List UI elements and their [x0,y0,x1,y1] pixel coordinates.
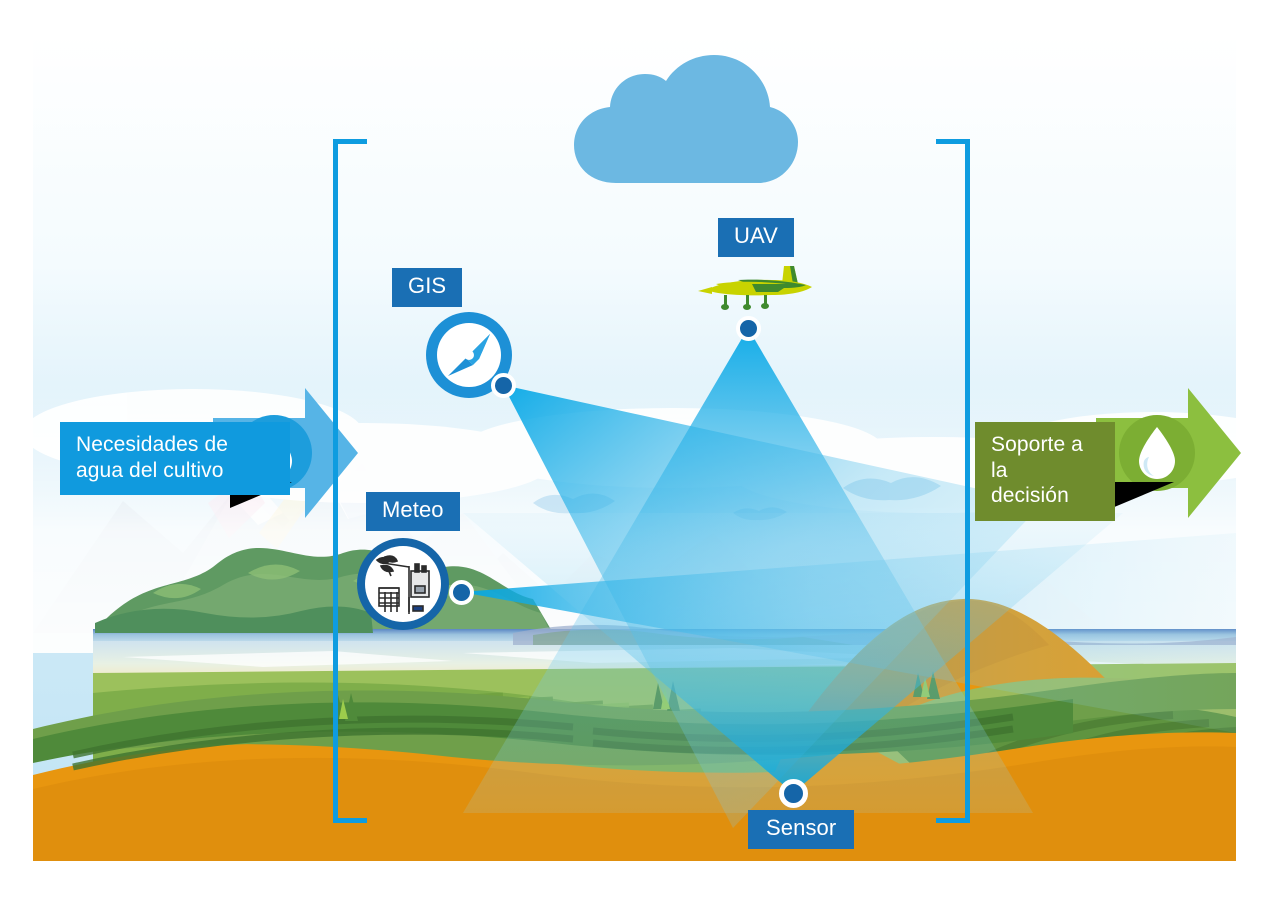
uav-label: UAV [718,218,794,257]
sensor-node-dot[interactable] [779,779,808,808]
gis-label: GIS [392,268,462,307]
cloud-icon [570,55,800,185]
right-bracket [936,139,970,823]
water-drop-icon [1119,415,1195,491]
infographic-canvas: Necesidades de agua del cultivo Soporte … [0,0,1269,897]
output-label-notch [1112,482,1174,508]
input-arrow-label: Necesidades de agua del cultivo [60,422,290,495]
gis-node-dot[interactable] [491,373,516,398]
sensor-label: Sensor [748,810,854,849]
meteo-label: Meteo [366,492,460,531]
weather-station-icon [355,536,451,632]
uav-node-dot[interactable] [736,316,761,341]
left-bracket [333,139,367,823]
output-arrow-label: Soporte a la decisión [975,422,1115,521]
meteo-node-dot[interactable] [449,580,474,605]
airplane-icon [698,262,818,312]
